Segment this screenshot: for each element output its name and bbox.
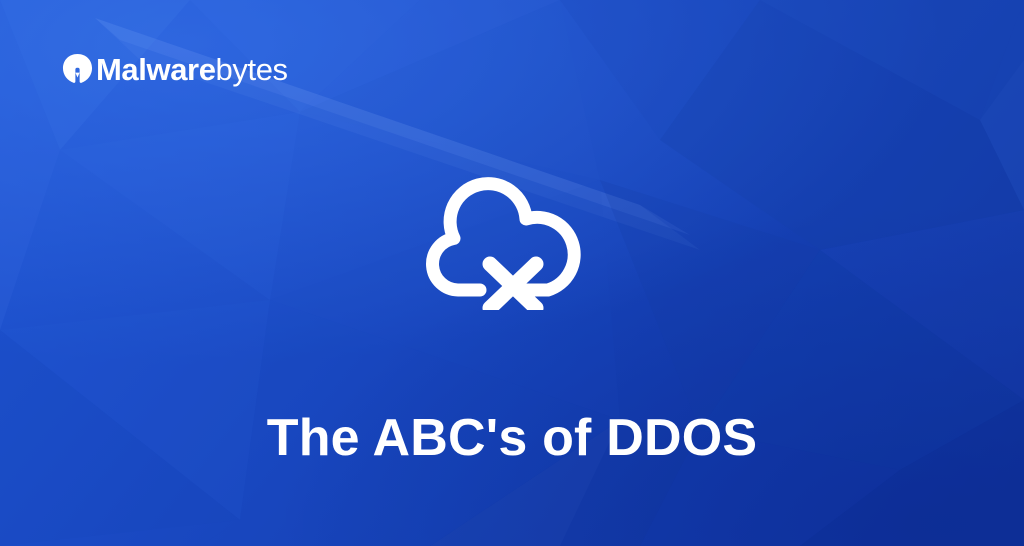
malwarebytes-logo[interactable]: Malwarebytes: [62, 48, 288, 88]
page-title: The ABC's of DDOS: [0, 409, 1024, 467]
logo-text-light: bytes: [216, 52, 288, 87]
ddos-banner: Malwarebytes The ABC's of DDOS: [0, 0, 1024, 546]
malwarebytes-logo-text: Malwarebytes: [96, 54, 288, 85]
malwarebytes-m-shield-icon: [62, 53, 93, 84]
cloud-with-x-icon: [422, 168, 602, 310]
logo-text-bold: Malware: [96, 52, 216, 87]
